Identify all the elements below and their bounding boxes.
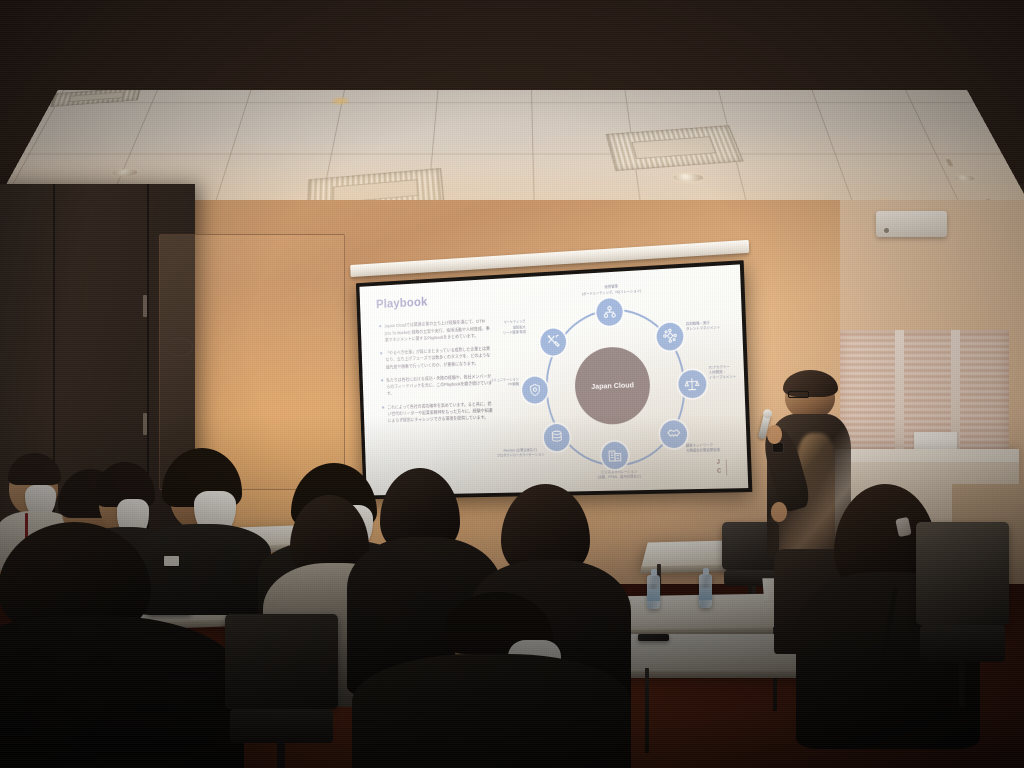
building-icon: [607, 447, 623, 463]
wristwatch: [773, 443, 783, 452]
hub-label: Japan Cloud: [591, 380, 634, 391]
smartphone[interactable]: [638, 634, 669, 642]
torso: [0, 616, 244, 768]
water-bottle[interactable]: [647, 575, 660, 609]
screen-frame: Playbook ● Japan Cloudでは関連企業の立ち上げ経験を通じて、…: [355, 260, 751, 499]
torso: [352, 654, 631, 768]
list-item: ● 「やるべき仕事」が既にまとまっている成熟した企業とは異なり、立ち上げフェーズ…: [379, 345, 493, 371]
company-logo-icon: [165, 338, 193, 356]
stacking-chair[interactable]: [916, 522, 1008, 706]
handshake-icon: [665, 425, 681, 442]
hair: [8, 453, 61, 485]
bullet-dot-icon: ●: [378, 323, 382, 344]
projection-screen: Playbook ● Japan Cloudでは関連企業の立ち上げ経験を通じて、…: [355, 260, 751, 499]
stacking-chair[interactable]: [225, 614, 338, 768]
presentation-room-photo: Playbook ● Japan Cloudでは関連企業の立ち上げ経験を通じて、…: [0, 0, 1024, 768]
node-network: [655, 321, 683, 350]
org-chart-icon: [601, 303, 617, 320]
node-tools: [540, 327, 567, 355]
slide-surface: Playbook ● Japan Cloudでは関連企業の立ち上げ経験を通じて、…: [359, 264, 748, 495]
node-label: RevOps (企業企画など) プロダクトローカライゼーション: [469, 447, 572, 460]
projector-mount: [876, 211, 948, 237]
node-label: JCアカデミー 人材開発・ イネーブルメント: [708, 362, 748, 381]
node-handshake: [659, 419, 687, 447]
node-label: ビジネスオペレーション (法務、FP&A、給与計算など): [557, 468, 682, 481]
list-item: ● これによって各社の成功確率を高めています。ると共に、若い世代のリーダーや起業…: [381, 400, 495, 425]
bullet-dot-icon: ●: [381, 404, 385, 424]
node-label: マーケティング 認知拡大 リード獲得/育成: [452, 319, 526, 338]
node-org-chart: [596, 297, 623, 326]
node-label: 顧客ネットワーク 大関連会社間協業促進: [685, 441, 747, 454]
bullet-text: 「やるべき仕事」が既にまとまっている成熟した企業とは異なり、立ち上げフェーズでは…: [385, 345, 493, 370]
node-scales: [678, 369, 706, 398]
shield-icon: [527, 382, 542, 398]
wall-sign-label: [163, 364, 165, 369]
node-shield: [522, 376, 548, 404]
table-leg: [645, 668, 649, 752]
scales-icon: [684, 375, 700, 392]
bullet-text: これによって各社の成功確率を高めています。ると共に、若い世代のリーダーや起業家精…: [387, 400, 495, 424]
tools-icon: [545, 333, 560, 349]
node-label: 経営管理 (ボードミーティング、HQリレーション): [548, 281, 675, 298]
node-building: [601, 441, 628, 469]
stack-icon: [549, 429, 564, 445]
jc-logo: J C: [716, 458, 721, 475]
bullet-dot-icon: ●: [379, 350, 383, 371]
slide-title: Playbook: [375, 294, 427, 311]
bullet-dot-icon: ●: [380, 377, 384, 397]
audience-member: [389, 599, 594, 768]
presenter-hand: [771, 502, 787, 521]
audience-member: [0, 522, 205, 768]
node-label: コミュニケーション PR戦略: [449, 377, 518, 390]
node-label: 採用戦略・実行 タレントマネジメント: [685, 317, 747, 331]
cycle-diagram: Japan Cloud 経営管理 (ボードミーティング、HQリレーション): [498, 278, 731, 488]
network-icon: [661, 327, 677, 344]
glasses-icon: [788, 391, 809, 398]
water-bottle[interactable]: [699, 574, 712, 608]
